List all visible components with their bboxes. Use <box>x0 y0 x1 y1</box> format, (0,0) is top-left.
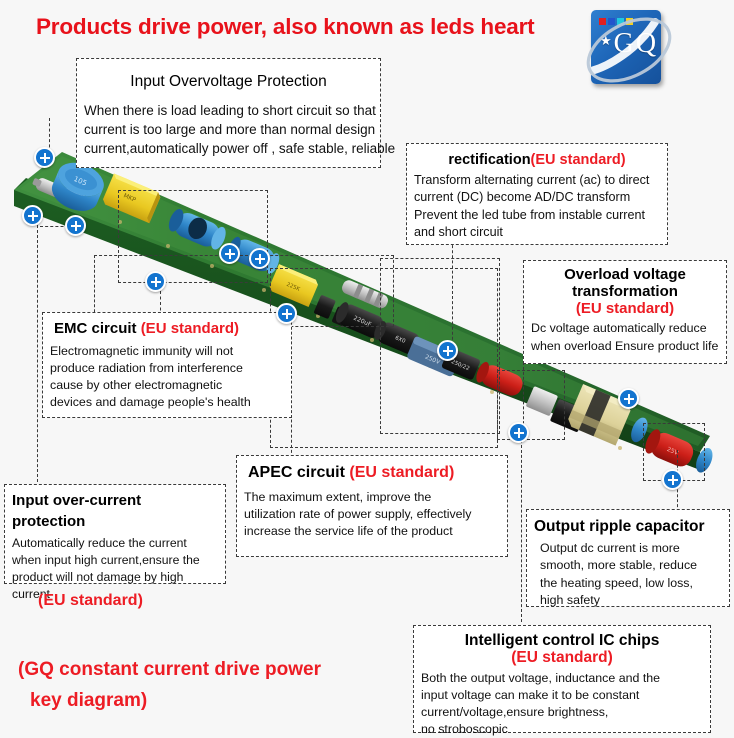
callout-line: The maximum extent, improve the <box>244 489 500 506</box>
marker-output-ripple-icon[interactable] <box>662 469 683 490</box>
callout-title-eu: (EU standard) <box>511 649 613 666</box>
callout-overload-voltage-transformation[interactable]: Overload voltage transformation (EU stan… <box>523 260 727 364</box>
callout-line: high safety <box>540 592 722 609</box>
callout-line: When there is load leading to short circ… <box>84 102 373 121</box>
callout-line: product will not damage by high <box>12 569 218 586</box>
callout-title: Input over-current protection <box>12 491 218 532</box>
marker-apec-left-icon[interactable] <box>249 248 270 269</box>
callout-input-over-current-eu-label: (EU standard) <box>38 592 143 610</box>
callout-emc-circuit[interactable]: EMC circuit (EU standard) Electromagneti… <box>42 312 292 418</box>
callout-line: no stroboscopic <box>421 721 703 738</box>
marker-emc-bottom-icon[interactable] <box>145 271 166 292</box>
marker-rectification-icon[interactable] <box>437 340 458 361</box>
footer-line-1: (GQ constant current drive power <box>18 659 321 681</box>
callout-output-ripple-capacitor[interactable]: Output ripple capacitor Output dc curren… <box>526 509 730 607</box>
callout-line: Dc voltage automatically reduce <box>531 320 719 337</box>
callout-line: Automatically reduce the current <box>12 535 218 552</box>
infographic-page: Products drive power, also known as leds… <box>0 0 734 738</box>
callout-input-overvoltage-protection[interactable]: Input Overvoltage Protection When there … <box>76 58 381 168</box>
callout-rectification[interactable]: rectification(EU standard) Transform alt… <box>406 143 668 245</box>
callout-title-text: APEC circuit <box>248 464 345 481</box>
callout-body: Electromagnetic immunity will not produc… <box>50 343 284 411</box>
callout-line: the heating speed, low loss, <box>540 575 722 592</box>
region-overload <box>497 370 565 440</box>
callout-line: current (DC) become AD/DC transform <box>414 189 660 206</box>
callout-line: Output dc current is more <box>540 540 722 557</box>
callout-title: APEC circuit (EU standard) <box>244 462 500 484</box>
callout-title: EMC circuit (EU standard) <box>50 319 284 340</box>
callout-line: cause by other electromagnetic <box>50 377 284 394</box>
callout-intelligent-control-ic-chips[interactable]: Intelligent control IC chips (EU standar… <box>413 625 711 733</box>
callout-title-eu: (EU standard) <box>531 152 626 168</box>
callout-line: Both the output voltage, inductance and … <box>421 670 703 687</box>
callout-title-text: Intelligent control IC chips <box>465 632 660 649</box>
callout-line: increase the service life of the product <box>244 523 500 540</box>
callout-line: Transform alternating current (ac) to di… <box>414 172 660 189</box>
callout-body: The maximum extent, improve the utilizat… <box>244 489 500 540</box>
callout-body: Output dc current is more smooth, more s… <box>534 540 722 608</box>
callout-title-text: Output ripple capacitor <box>534 518 705 535</box>
callout-line: current/voltage,ensure brightness, <box>421 704 703 721</box>
callout-apec-circuit[interactable]: APEC circuit (EU standard) The maximum e… <box>236 455 508 557</box>
footer-line-2: key diagram) <box>30 690 147 712</box>
callout-input-over-current-protection[interactable]: Input over-current protection Automatica… <box>4 484 226 584</box>
callout-line: and short circuit <box>414 224 660 241</box>
callout-line: produce radiation from interference <box>50 360 284 377</box>
marker-emc-right-icon[interactable] <box>219 243 240 264</box>
callout-line: current is too large and more than norma… <box>84 121 373 140</box>
callout-body: Transform alternating current (ac) to di… <box>414 172 660 242</box>
marker-input-overvoltage-icon[interactable] <box>34 147 55 168</box>
callout-line: utilization rate of power supply, effect… <box>244 506 500 523</box>
marker-emc-left-icon[interactable] <box>65 215 86 236</box>
callout-line: input voltage can make it to be constant <box>421 687 703 704</box>
callout-title-text: EMC circuit <box>54 320 137 337</box>
lead-rectification <box>452 240 453 350</box>
callout-line: when input high current,ensure the <box>12 552 218 569</box>
marker-input-over-current-icon[interactable] <box>22 205 43 226</box>
lead-intelligent <box>521 440 522 622</box>
callout-title: Intelligent control IC chips (EU standar… <box>421 632 703 667</box>
callout-title-text: Overload voltage transformation <box>564 266 686 300</box>
callout-body: Dc voltage automatically reduce when ove… <box>531 320 719 354</box>
callout-line: current,automatically power off , safe s… <box>84 140 373 159</box>
callout-title-eu: (EU standard) <box>349 464 454 481</box>
marker-transformer-icon[interactable] <box>618 388 639 409</box>
marker-apec-bottom-icon[interactable] <box>276 303 297 324</box>
callout-title: Overload voltage transformation (EU stan… <box>531 267 719 317</box>
callout-title-eu: (EU standard) <box>576 300 674 317</box>
callout-title: rectification(EU standard) <box>414 150 660 170</box>
callout-line: when overload Ensure product life <box>531 338 719 355</box>
callout-title: Output ripple capacitor <box>534 516 722 537</box>
callout-body: Both the output voltage, inductance and … <box>421 670 703 738</box>
marker-overload-icon[interactable] <box>508 422 529 443</box>
callout-title-text: rectification <box>448 152 530 168</box>
callout-body: When there is load leading to short circ… <box>84 102 373 158</box>
callout-title-eu: (EU standard) <box>141 320 239 337</box>
callout-line: smooth, more stable, reduce <box>540 557 722 574</box>
callout-line: devices and damage people's health <box>50 394 284 411</box>
callout-line: Prevent the led tube from instable curre… <box>414 207 660 224</box>
callout-line: Electromagnetic immunity will not <box>50 343 284 360</box>
lead-input-overcurrent <box>37 225 38 487</box>
callout-title-text: Input over-current protection <box>12 492 141 530</box>
callout-title: Input Overvoltage Protection <box>84 65 373 92</box>
